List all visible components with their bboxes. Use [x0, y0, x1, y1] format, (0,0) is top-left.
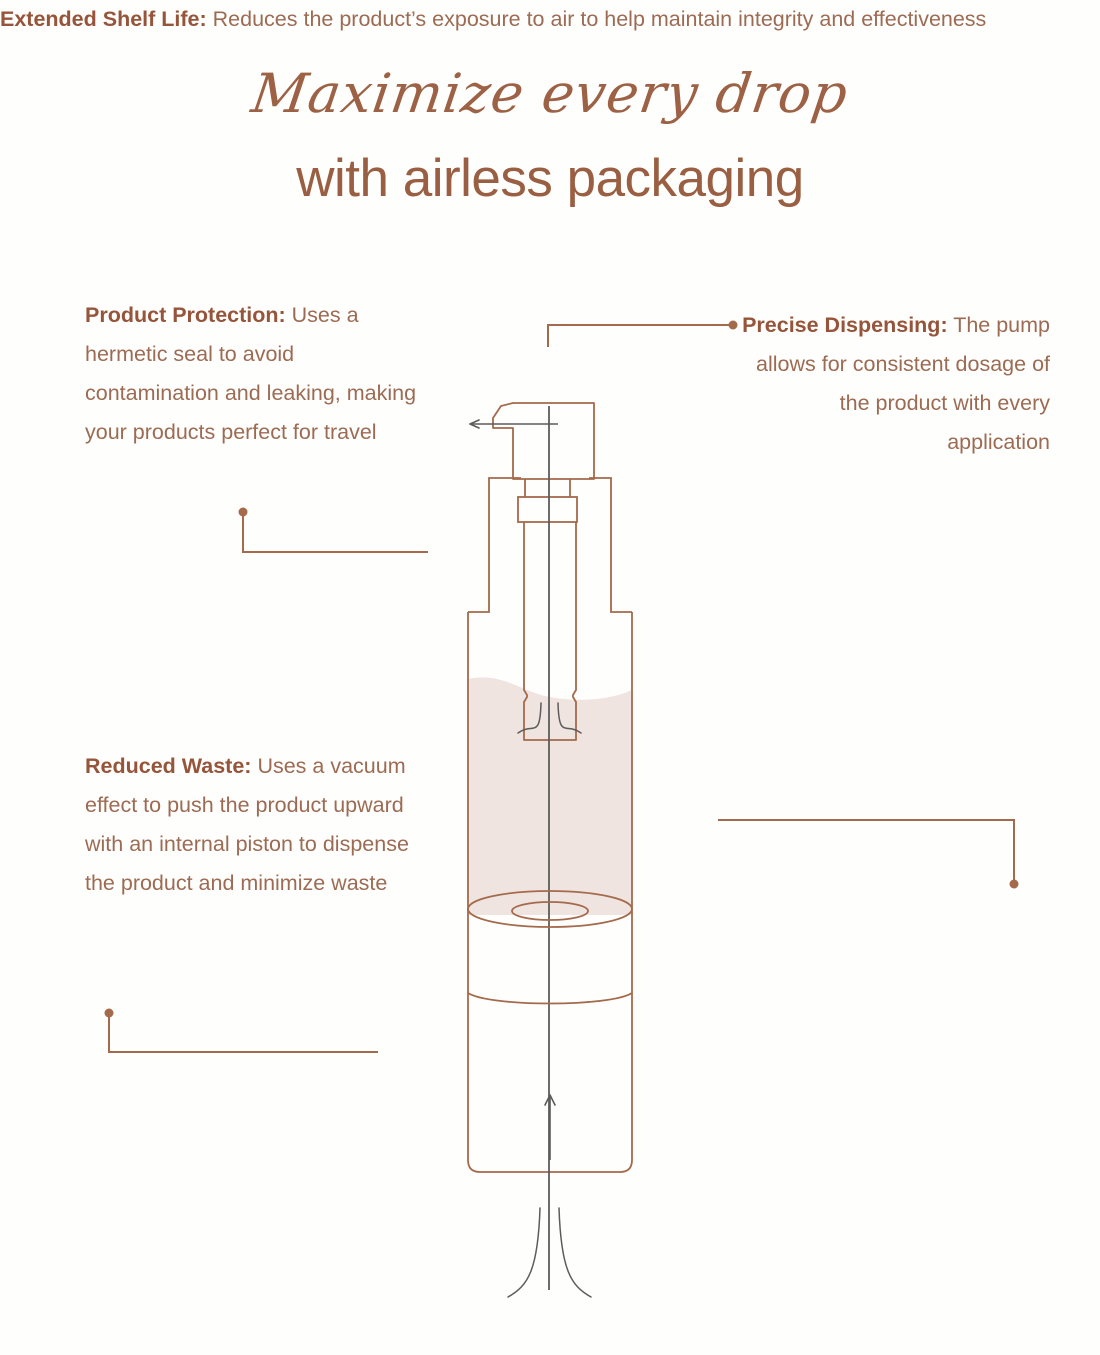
- pump-head: [493, 403, 594, 479]
- connector-dot: [239, 508, 248, 517]
- airless-bottle-illustration: [0, 0, 1100, 1355]
- connector-extended-shelf-life: [718, 820, 1019, 889]
- connector-line: [718, 820, 1014, 884]
- bottle-shoulder-right: [589, 478, 632, 612]
- callout-lead: Reduced Waste:: [85, 754, 251, 778]
- connector-line: [109, 1013, 378, 1052]
- connector-line: [548, 325, 733, 347]
- callout-lead: Precise Dispensing:: [742, 313, 948, 337]
- flow-line-bottom-left: [508, 1208, 540, 1297]
- callout-lead: Product Protection:: [85, 303, 286, 327]
- callout-extended-shelf-life: Extended Shelf Life: Reduces the product…: [0, 0, 986, 39]
- connector-dot: [1010, 880, 1019, 889]
- flow-line-bottom-right: [559, 1208, 591, 1297]
- bottle-shoulder: [468, 478, 521, 612]
- connector-reduced-waste: [105, 1009, 379, 1053]
- connector-product-protection: [239, 508, 429, 553]
- callout-body: Reduces the product’s exposure to air to…: [207, 7, 987, 31]
- infographic-canvas: Maximize every drop with airless packagi…: [0, 0, 1100, 1355]
- callout-precise-dispensing: Precise Dispensing: The pump allows for …: [735, 306, 1050, 462]
- callout-reduced-waste: Reduced Waste: Uses a vacuum effect to p…: [85, 747, 410, 903]
- nozzle-arrow: [470, 420, 558, 428]
- pump-collar: [518, 497, 577, 522]
- callout-lead: Extended Shelf Life:: [0, 7, 207, 31]
- connector-precise-dispensing: [548, 321, 738, 348]
- callout-product-protection: Product Protection: Uses a hermetic seal…: [85, 296, 430, 452]
- connector-line: [243, 512, 428, 552]
- connector-dot: [105, 1009, 114, 1018]
